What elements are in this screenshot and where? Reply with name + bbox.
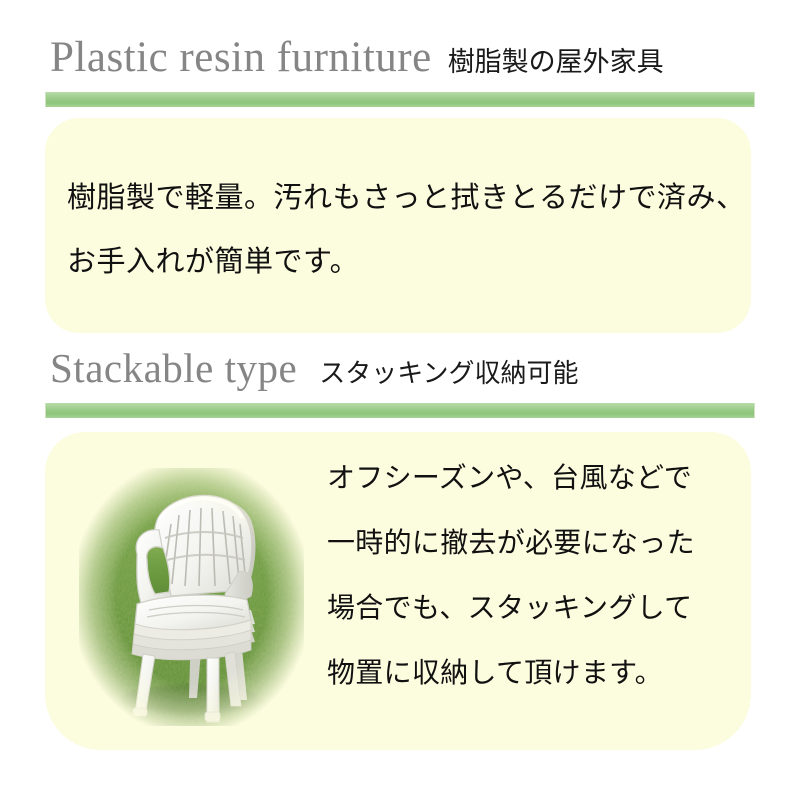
stackable-line: 一時的に撤去が必要になった	[327, 529, 727, 569]
section-heading-stackable-type: Stackable type スタッキング収納可能	[50, 348, 578, 390]
section-heading-japanese: 樹脂製の屋外家具	[448, 40, 664, 79]
green-divider-bar-1	[45, 92, 755, 107]
section-heading-plastic-resin-furniture: Plastic resin furniture 樹脂製の屋外家具	[50, 36, 664, 79]
description-panel: 樹脂製で軽量。汚れもさっと拭きとるだけで済み、 お手入れが簡単です。	[45, 118, 751, 333]
chair-photo-illustration	[79, 468, 304, 726]
stacked-chairs-photo	[79, 468, 304, 726]
description-line: 樹脂製で軽量。汚れもさっと拭きとるだけで済み、	[67, 174, 746, 216]
description-line: お手入れが簡単です。	[67, 238, 359, 280]
section-heading-english: Stackable type	[50, 348, 297, 389]
product-feature-page: Plastic resin furniture 樹脂製の屋外家具 樹脂製で軽量。…	[0, 0, 800, 800]
stackable-line: 場合でも、スタッキングして	[327, 594, 727, 634]
section-heading-english: Plastic resin furniture	[50, 36, 432, 79]
stackable-panel: オフシーズンや、台風などで 一時的に撤去が必要になった 場合でも、スタッキングし…	[45, 432, 751, 750]
green-divider-bar-2	[45, 403, 755, 418]
stackable-line: オフシーズンや、台風などで	[327, 464, 727, 504]
stackable-description-text: オフシーズンや、台風などで 一時的に撤去が必要になった 場合でも、スタッキングし…	[327, 464, 727, 724]
section-heading-japanese: スタッキング収納可能	[319, 353, 578, 390]
stackable-line: 物置に収納して頂けます。	[327, 659, 727, 699]
